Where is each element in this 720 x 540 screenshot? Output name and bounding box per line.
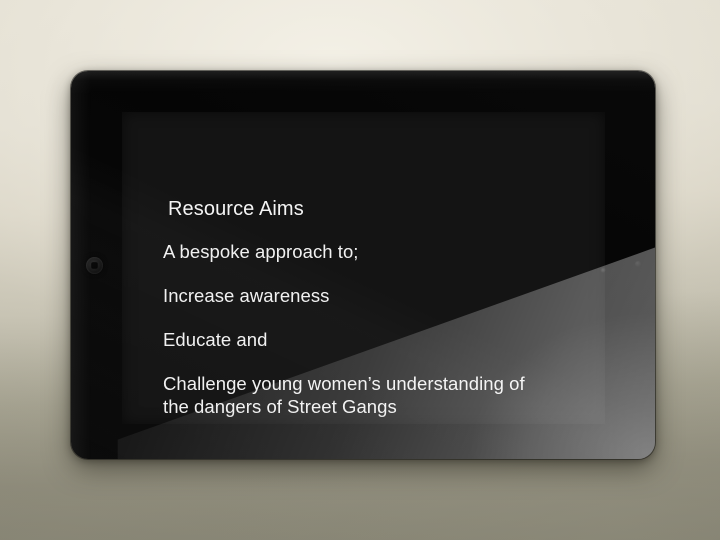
slide-bullet-4: Challenge young women’s understanding of… [163, 372, 563, 418]
slide-title: Resource Aims [168, 197, 304, 221]
slide-bullet-2: Increase awareness [163, 284, 329, 307]
slide-bullet-4-line-2: the dangers of Street Gangs [163, 395, 563, 418]
tablet-device: Resource Aims A bespoke approach to; Inc… [71, 71, 655, 459]
slide-bullet-4-line-1: Challenge young women’s understanding of [163, 373, 525, 394]
home-button-icon[interactable] [86, 257, 103, 274]
screenshot-stage: Resource Aims A bespoke approach to; Inc… [0, 0, 720, 540]
front-camera-icon [635, 261, 641, 267]
slide-bullet-3: Educate and [163, 328, 267, 351]
slide-bullet-1: A bespoke approach to; [163, 240, 359, 263]
presentation-slide: Resource Aims A bespoke approach to; Inc… [122, 112, 605, 424]
tablet-screen[interactable]: Resource Aims A bespoke approach to; Inc… [122, 112, 605, 424]
